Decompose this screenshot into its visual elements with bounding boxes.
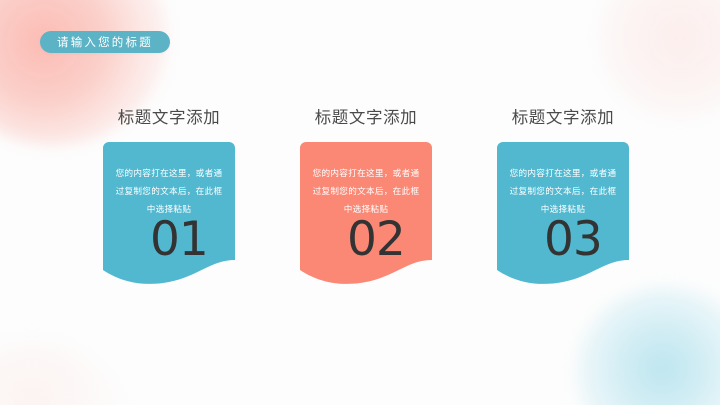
slide-title-label: 请输入您的标题 (57, 34, 153, 50)
column-3-heading: 标题文字添加 (512, 104, 615, 128)
column-2-heading: 标题文字添加 (315, 104, 418, 128)
column-3-card-text: 您的内容打在这里，或者通过复制您的文本后，在此框中选择粘贴 (497, 164, 629, 218)
slide-canvas: 请输入您的标题 标题文字添加 您的内容打在这里，或者通过复制您的文本后，在此框中… (0, 0, 720, 405)
column-1-card-text: 您的内容打在这里，或者通过复制您的文本后，在此框中选择粘贴 (103, 164, 235, 218)
column-2-card-text: 您的内容打在这里，或者通过复制您的文本后，在此框中选择粘贴 (300, 164, 432, 218)
column-1-number: 01 (150, 216, 208, 263)
decorative-blob-bottom-right (576, 287, 720, 405)
columns-container: 标题文字添加 您的内容打在这里，或者通过复制您的文本后，在此框中选择粘贴 01 … (76, 104, 656, 287)
column-1: 标题文字添加 您的内容打在这里，或者通过复制您的文本后，在此框中选择粘贴 01 (76, 104, 262, 287)
column-3: 标题文字添加 您的内容打在这里，或者通过复制您的文本后，在此框中选择粘贴 03 (470, 104, 656, 287)
slide-title-pill[interactable]: 请输入您的标题 (40, 31, 170, 53)
column-2-number: 02 (347, 216, 405, 263)
decorative-blob-bottom-left (0, 341, 122, 405)
column-2: 标题文字添加 您的内容打在这里，或者通过复制您的文本后，在此框中选择粘贴 02 (273, 104, 459, 287)
column-1-heading: 标题文字添加 (118, 104, 221, 128)
column-3-number: 03 (544, 216, 602, 263)
